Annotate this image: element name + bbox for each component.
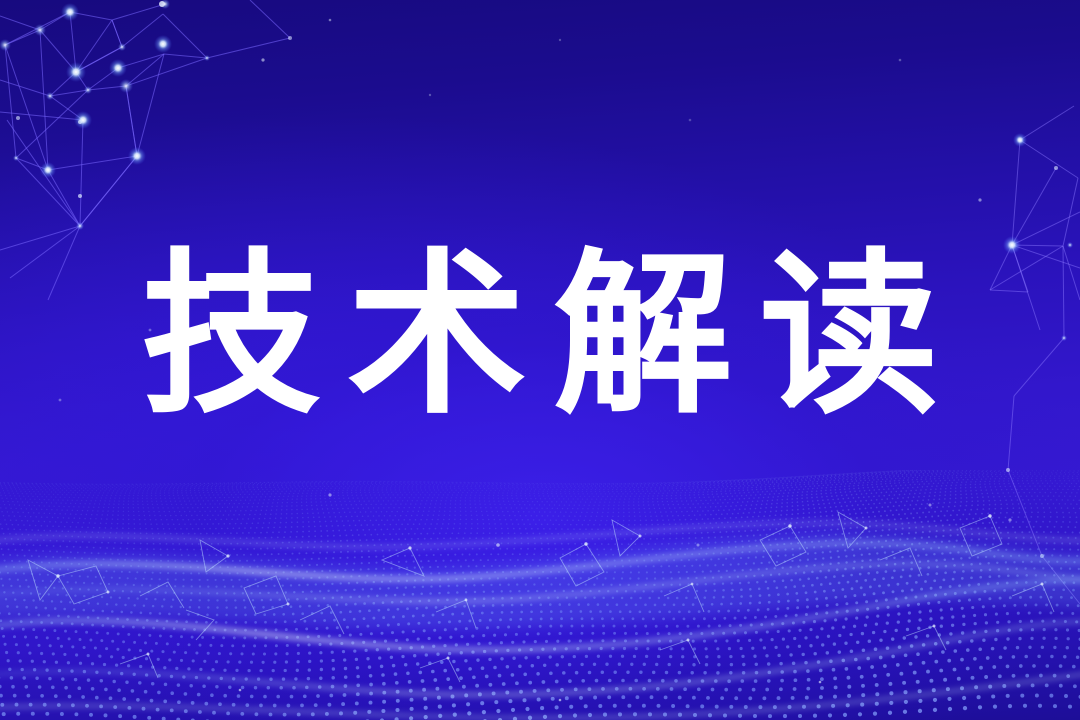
tech-banner: 技术解读 — [0, 0, 1080, 720]
wave-particle-tangles — [0, 0, 1080, 720]
